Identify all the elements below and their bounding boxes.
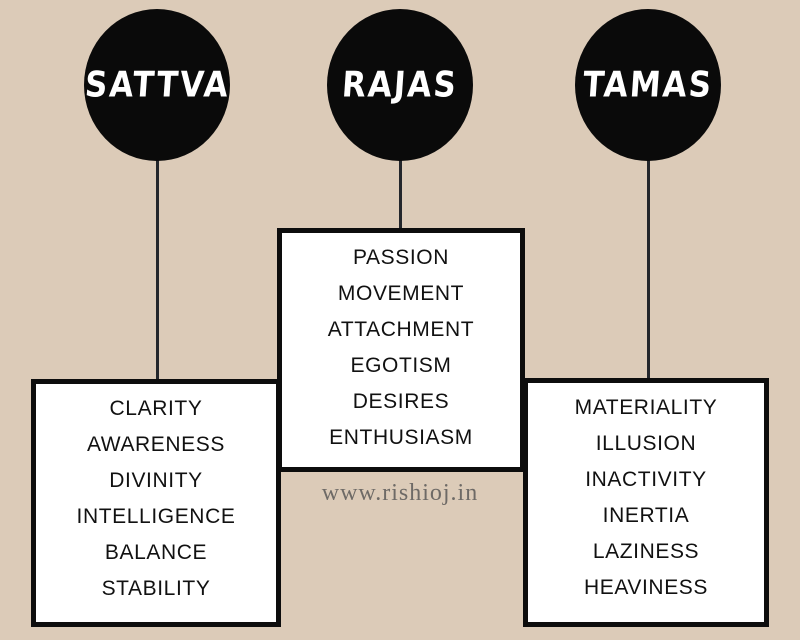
list-item: BALANCE xyxy=(105,542,207,563)
list-item: LAZINESS xyxy=(593,541,699,562)
list-item: CLARITY xyxy=(110,398,203,419)
list-item: AWARENESS xyxy=(87,434,225,455)
list-item: ENTHUSIASM xyxy=(329,427,473,448)
list-item: STABILITY xyxy=(102,578,211,599)
connector-stem-sattva xyxy=(156,150,159,382)
list-item: DESIRES xyxy=(353,391,449,412)
list-item: ILLUSION xyxy=(596,433,697,454)
list-item: MATERIALITY xyxy=(575,397,718,418)
node-circle-label-tamas: TAMAS xyxy=(582,67,714,102)
node-circle-rajas: RAJAS xyxy=(327,9,473,161)
infographic-canvas: SATTVA RAJAS TAMAS CLARITY AWARENESS DIV… xyxy=(0,0,800,640)
node-circle-sattva: SATTVA xyxy=(84,9,230,161)
list-item: EGOTISM xyxy=(350,355,451,376)
node-circle-label-sattva: SATTVA xyxy=(83,67,230,102)
watermark: www.rishioj.in xyxy=(0,480,800,507)
list-item: ATTACHMENT xyxy=(328,319,474,340)
connector-stem-rajas xyxy=(399,150,402,232)
list-item: HEAVINESS xyxy=(584,577,708,598)
node-circle-label-rajas: RAJAS xyxy=(341,67,459,102)
list-item: PASSION xyxy=(353,247,449,268)
node-circle-tamas: TAMAS xyxy=(575,9,721,161)
list-item: MOVEMENT xyxy=(338,283,464,304)
list-item: INERTIA xyxy=(603,505,690,526)
connector-stem-tamas xyxy=(647,150,650,382)
list-item: INTELLIGENCE xyxy=(77,506,236,527)
attribute-box-rajas: PASSION MOVEMENT ATTACHMENT EGOTISM DESI… xyxy=(277,228,525,472)
